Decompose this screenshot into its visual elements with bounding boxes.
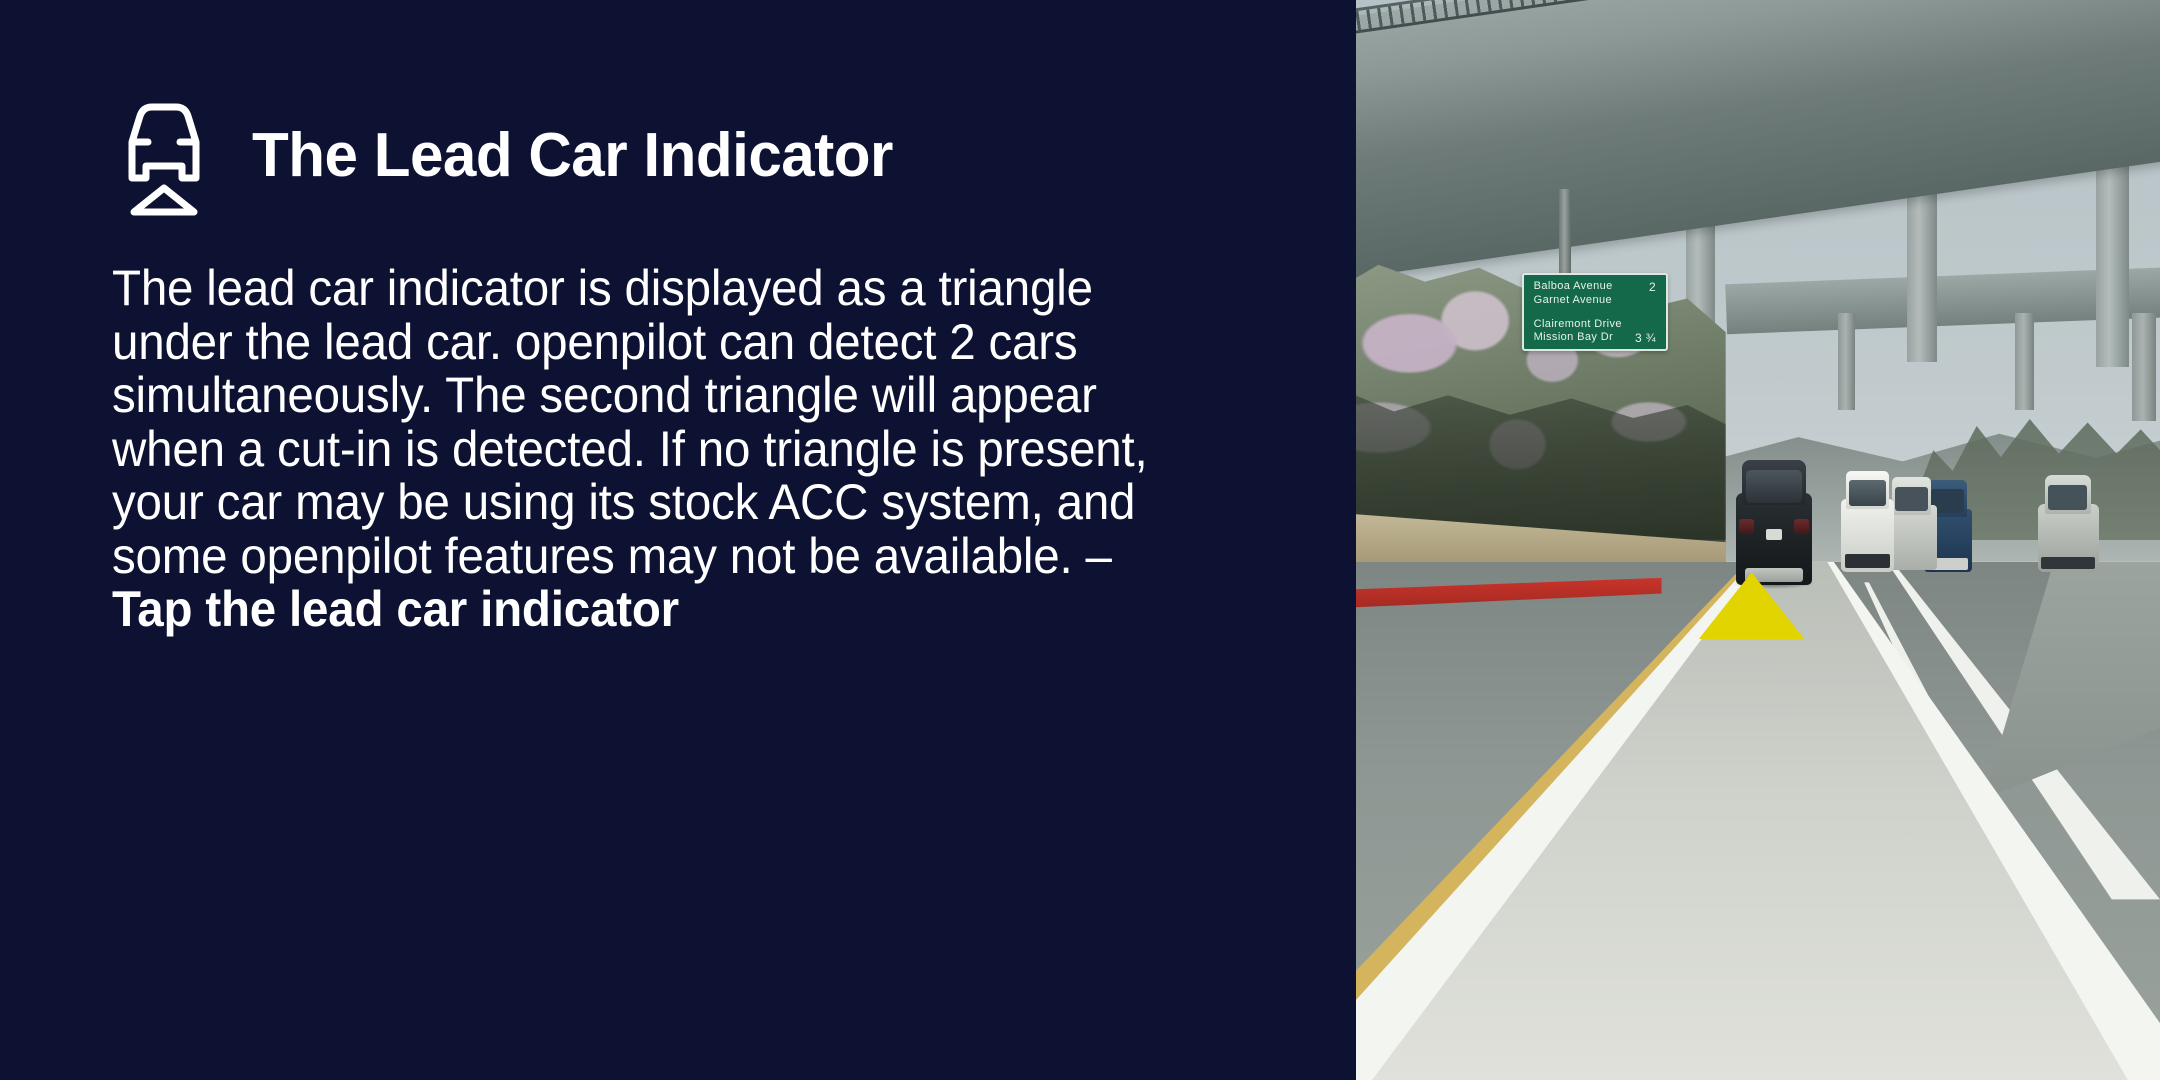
- lead-vehicle-dark-suv: [1736, 460, 1812, 585]
- body-bold-callout: Tap the lead car indicator: [112, 581, 679, 637]
- far-overpass-column: [1838, 313, 1855, 410]
- highway-guide-sign: Balboa Avenue Garnet Avenue Clairemont D…: [1522, 273, 1668, 351]
- sign-destinations: Balboa Avenue Garnet Avenue Clairemont D…: [1534, 280, 1626, 345]
- sign-post: [1559, 189, 1571, 275]
- sign-line-mission-bay: Mission Bay Dr: [1534, 331, 1626, 345]
- dashcam-photo: Balboa Avenue Garnet Avenue Clairemont D…: [1356, 0, 2160, 1080]
- vehicle-silver-van: [1887, 477, 1937, 570]
- info-panel: The Lead Car Indicator The lead car indi…: [0, 0, 1356, 1080]
- panel-body-text: The lead car indicator is displayed as a…: [112, 262, 1186, 637]
- sign-group-far: Clairemont Drive Mission Bay Dr: [1534, 318, 1626, 345]
- sign-distance-near: 2: [1649, 280, 1656, 294]
- sign-line-clairemont: Clairemont Drive: [1534, 318, 1626, 332]
- far-overpass-column: [2015, 313, 2033, 410]
- vehicle-white-suv: [1841, 471, 1894, 573]
- far-overpass-column: [2132, 313, 2156, 421]
- lead-car-indicator-page: The Lead Car Indicator The lead car indi…: [0, 0, 2160, 1080]
- sign-distance-far: 3 ¾: [1635, 331, 1656, 345]
- sign-line-balboa: Balboa Avenue: [1534, 280, 1626, 294]
- sign-line-garnet: Garnet Avenue: [1534, 294, 1626, 308]
- sign-group-near: Balboa Avenue Garnet Avenue: [1534, 280, 1626, 307]
- sign-distances: 2 3 ¾: [1626, 280, 1658, 345]
- page-title: The Lead Car Indicator: [252, 125, 893, 187]
- body-main-text: The lead car indicator is displayed as a…: [112, 260, 1148, 584]
- vehicle-silver-car-right-lane: [2038, 475, 2099, 572]
- lead-car-indicator-icon: [112, 96, 216, 216]
- panel-header: The Lead Car Indicator: [112, 96, 1356, 216]
